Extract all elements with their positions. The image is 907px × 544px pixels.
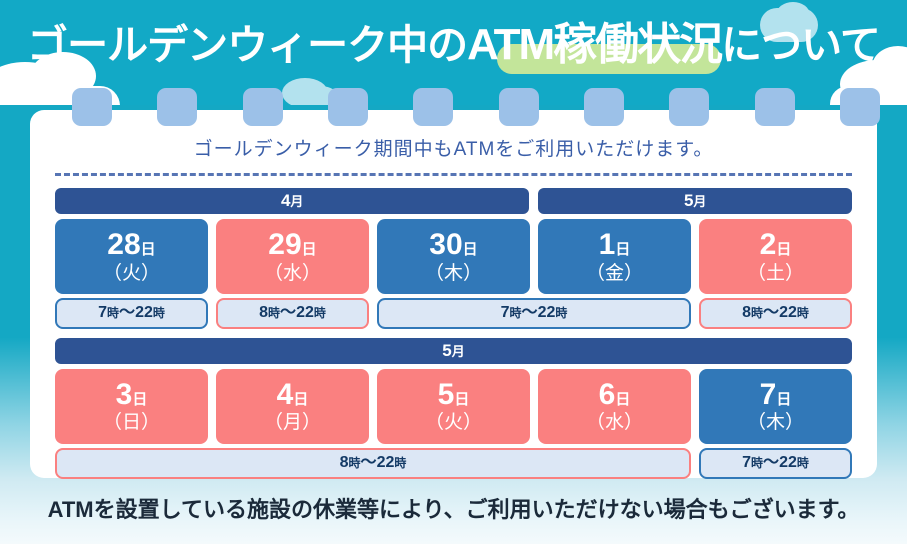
hours-separator: ～ — [522, 304, 538, 321]
day-cells-row: 3日（日）4日（月）5日（火）6日（水）7日（木） — [55, 369, 852, 444]
close-hour: 22 — [296, 304, 314, 321]
operating-hours-bar: 8時～22時 — [216, 298, 369, 329]
open-hour: 8 — [259, 304, 268, 321]
day-of-week: （土） — [699, 263, 852, 284]
operating-hours-bar: 7時～22時 — [55, 298, 208, 329]
bunting-square — [72, 88, 112, 126]
day-of-week: （水） — [216, 263, 369, 284]
title-segment-3: について — [721, 22, 880, 68]
day-number: 28 — [107, 228, 140, 261]
hours-separator: ～ — [119, 304, 135, 321]
day-number-line: 4日 — [216, 378, 369, 412]
bunting-square — [157, 88, 197, 126]
close-hour-unit: 時 — [314, 306, 326, 320]
day-number-line: 30日 — [377, 228, 530, 262]
day-number-line: 5日 — [377, 378, 530, 412]
day-unit: 日 — [776, 391, 791, 408]
bunting-square — [243, 88, 283, 126]
day-number-line: 28日 — [55, 228, 208, 262]
day-number-line: 2日 — [699, 228, 852, 262]
month-header: 4月 — [55, 188, 529, 214]
close-hour: 22 — [377, 454, 395, 471]
day-number: 7 — [760, 378, 777, 411]
bunting-square — [755, 88, 795, 126]
operating-hours-bar: 8時～22時 — [55, 448, 691, 479]
month-unit: 月 — [693, 194, 706, 209]
day-unit: 日 — [132, 391, 147, 408]
open-hour-unit: 時 — [268, 306, 280, 320]
bunting-square — [499, 88, 539, 126]
close-hour-unit: 時 — [797, 456, 809, 470]
day-unit: 日 — [615, 391, 630, 408]
day-unit: 日 — [615, 241, 630, 258]
title-segment-2: ATM稼働状況 — [467, 20, 721, 69]
operating-hours-bar: 7時～22時 — [699, 448, 852, 479]
open-hour-unit: 時 — [751, 456, 763, 470]
day-unit: 日 — [463, 241, 478, 258]
close-hour: 22 — [779, 304, 797, 321]
close-hour-unit: 時 — [153, 306, 165, 320]
time-bars-row: 8時～22時7時～22時 — [55, 448, 852, 479]
month-header: 5月 — [55, 338, 852, 364]
open-hour: 8 — [742, 304, 751, 321]
bunting-square — [584, 88, 624, 126]
close-hour: 22 — [779, 454, 797, 471]
day-number: 5 — [438, 378, 455, 411]
footer-note: ATMを設置している施設の休業等により、ご利用いただけない場合もございます。 — [0, 492, 907, 524]
day-number: 3 — [116, 378, 133, 411]
day-number-line: 6日 — [538, 378, 691, 412]
day-cell: 30日（木） — [377, 219, 530, 294]
day-of-week: （日） — [55, 412, 208, 433]
open-hour: 7 — [98, 304, 107, 321]
open-hour: 7 — [742, 454, 751, 471]
month-unit: 月 — [290, 194, 303, 209]
calendar-row: 4月5月28日（火）29日（水）30日（木）1日（金）2日（土）7時～22時8時… — [55, 188, 852, 329]
calendar: 4月5月28日（火）29日（水）30日（木）1日（金）2日（土）7時～22時8時… — [55, 188, 852, 479]
close-hour: 22 — [135, 304, 153, 321]
close-hour-unit: 時 — [394, 456, 406, 470]
day-cells-row: 28日（火）29日（水）30日（木）1日（金）2日（土） — [55, 219, 852, 294]
day-cell: 4日（月） — [216, 369, 369, 444]
day-number-line: 29日 — [216, 228, 369, 262]
hours-separator: ～ — [280, 304, 296, 321]
bunting-square — [669, 88, 709, 126]
day-number: 29 — [268, 228, 301, 261]
open-hour: 8 — [340, 454, 349, 471]
month-number: 4 — [281, 191, 290, 210]
day-of-week: （木） — [377, 263, 530, 284]
day-number: 6 — [599, 378, 616, 411]
month-number: 5 — [684, 191, 693, 210]
day-cell: 3日（日） — [55, 369, 208, 444]
day-number: 1 — [599, 228, 616, 261]
day-unit: 日 — [454, 391, 469, 408]
close-hour: 22 — [538, 304, 556, 321]
day-unit: 日 — [302, 241, 317, 258]
day-unit: 日 — [776, 241, 791, 258]
title-segment-1: ゴールデンウィーク中の — [27, 22, 467, 68]
month-number: 5 — [442, 341, 451, 360]
day-of-week: （木） — [699, 412, 852, 433]
day-cell: 28日（火） — [55, 219, 208, 294]
open-hour-unit: 時 — [349, 456, 361, 470]
day-number: 4 — [277, 378, 294, 411]
day-unit: 日 — [293, 391, 308, 408]
hours-separator: ～ — [361, 454, 377, 471]
open-hour-unit: 時 — [107, 306, 119, 320]
day-of-week: （火） — [377, 412, 530, 433]
calendar-row: 5月3日（日）4日（月）5日（火）6日（水）7日（木）8時～22時7時～22時 — [55, 338, 852, 479]
operating-hours-bar: 7時～22時 — [377, 298, 691, 329]
open-hour-unit: 時 — [510, 306, 522, 320]
month-unit: 月 — [452, 344, 465, 359]
day-of-week: （火） — [55, 263, 208, 284]
day-of-week: （金） — [538, 263, 691, 284]
day-number-line: 3日 — [55, 378, 208, 412]
dashed-divider — [55, 173, 852, 176]
day-number: 30 — [429, 228, 462, 261]
day-cell: 6日（水） — [538, 369, 691, 444]
month-header: 5月 — [538, 188, 852, 214]
day-cell: 2日（土） — [699, 219, 852, 294]
card-lead-text: ゴールデンウィーク期間中もATMをご利用いただけます。 — [55, 128, 852, 173]
open-hour: 7 — [501, 304, 510, 321]
operating-hours-bar: 8時～22時 — [699, 298, 852, 329]
month-header-row: 4月5月 — [55, 188, 852, 214]
day-cell: 29日（水） — [216, 219, 369, 294]
open-hour-unit: 時 — [751, 306, 763, 320]
close-hour-unit: 時 — [797, 306, 809, 320]
month-header-row: 5月 — [55, 338, 852, 364]
hours-separator: ～ — [763, 304, 779, 321]
day-number-line: 1日 — [538, 228, 691, 262]
page-title: ゴールデンウィーク中のATM稼働状況について — [0, 14, 907, 76]
day-cell: 5日（火） — [377, 369, 530, 444]
hours-separator: ～ — [763, 454, 779, 471]
bunting-square — [328, 88, 368, 126]
bunting-square — [840, 88, 880, 126]
day-of-week: （水） — [538, 412, 691, 433]
day-unit: 日 — [141, 241, 156, 258]
schedule-card: ゴールデンウィーク期間中もATMをご利用いただけます。 4月5月28日（火）29… — [30, 110, 877, 478]
day-of-week: （月） — [216, 412, 369, 433]
day-cell: 1日（金） — [538, 219, 691, 294]
day-number: 2 — [760, 228, 777, 261]
day-number-line: 7日 — [699, 378, 852, 412]
close-hour-unit: 時 — [555, 306, 567, 320]
day-cell: 7日（木） — [699, 369, 852, 444]
bunting-square — [413, 88, 453, 126]
time-bars-row: 7時～22時8時～22時7時～22時8時～22時 — [55, 298, 852, 329]
